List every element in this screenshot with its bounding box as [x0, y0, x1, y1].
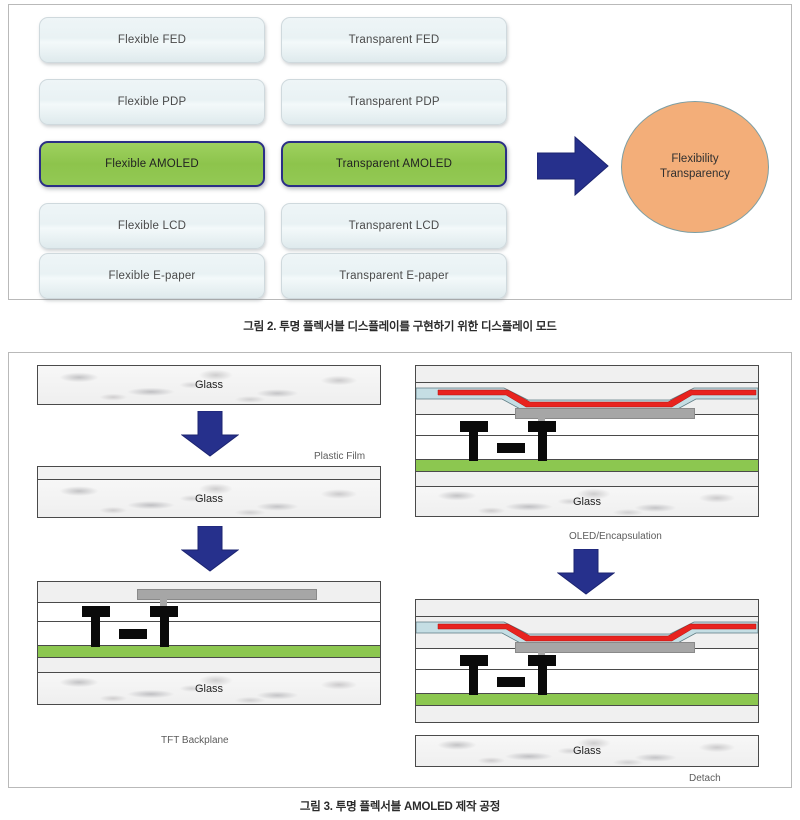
glass-label: Glass [195, 379, 223, 391]
step5-detached-glass-stack: Glass [415, 735, 759, 767]
mode-box-flexible-amoled[interactable]: Flexible AMOLED [39, 141, 265, 187]
cover-layer [415, 599, 759, 617]
arrow-down-icon [557, 549, 615, 595]
result-line-2: Transparency [660, 167, 730, 182]
mode-box-transparent-amoled[interactable]: Transparent AMOLED [281, 141, 507, 187]
glass-label: Glass [573, 496, 601, 508]
step3-label: TFT Backplane [161, 735, 229, 746]
plastic-film-layer [37, 466, 381, 480]
glass-label: Glass [573, 745, 601, 757]
glass-label: Glass [195, 683, 223, 695]
barrier-layer [37, 657, 381, 673]
mode-box-transparent-lcd[interactable]: Transparent LCD [281, 203, 507, 249]
figure3-panel: Glass Plastic Film Glass Glass [8, 352, 792, 788]
figure3-caption: 그림 3. 투명 플렉서블 AMOLED 제작 공정 [0, 798, 800, 814]
step5-stack [415, 599, 759, 723]
tft-electrode-stem-left [91, 615, 100, 647]
mode-box-transparent-pdp[interactable]: Transparent PDP [281, 79, 507, 125]
mode-box-flexible-epaper[interactable]: Flexible E-paper [39, 253, 265, 299]
mode-box-flexible-pdp[interactable]: Flexible PDP [39, 79, 265, 125]
tft-channel-bar [497, 443, 525, 453]
barrier-layer [415, 705, 759, 723]
step2-label: Plastic Film [314, 451, 365, 462]
interlayer-2 [415, 669, 759, 694]
mode-box-label: Transparent E-paper [339, 270, 448, 282]
mode-box-label: Transparent AMOLED [336, 158, 452, 170]
tft-electrode-stem-right [538, 430, 547, 461]
mode-box-label: Transparent FED [349, 34, 440, 46]
interlayer-2 [37, 621, 381, 646]
result-circle: Flexibility Transparency [621, 101, 769, 233]
step3-stack: Glass [37, 581, 381, 705]
tft-electrode-stem-right [538, 664, 547, 695]
barrier-layer [415, 471, 759, 487]
tft-channel-bar [119, 629, 147, 639]
mode-box-flexible-fed[interactable]: Flexible FED [39, 17, 265, 63]
arrow-down-icon [181, 411, 239, 457]
glass-label: Glass [195, 493, 223, 505]
tft-electrode-stem-right [160, 615, 169, 647]
mode-box-label: Transparent PDP [348, 96, 439, 108]
tft-channel-bar [497, 677, 525, 687]
step1-stack: Glass [37, 365, 381, 405]
step2-stack: Glass [37, 466, 381, 518]
glass-layer: Glass [37, 479, 381, 518]
mode-box-label: Flexible E-paper [109, 270, 196, 282]
tft-electrode-stem-left [469, 664, 478, 695]
mode-box-transparent-fed[interactable]: Transparent FED [281, 17, 507, 63]
glass-layer: Glass [37, 365, 381, 405]
mode-box-label: Flexible AMOLED [105, 158, 199, 170]
figure2-panel: Flexible FED Flexible PDP Flexible AMOLE… [8, 4, 792, 300]
mode-box-label: Flexible LCD [118, 220, 186, 232]
mode-box-label: Flexible PDP [118, 96, 187, 108]
tft-electrode-stem-left [469, 430, 478, 461]
step4-stack: Glass [415, 365, 759, 517]
mode-box-label: Transparent LCD [349, 220, 440, 232]
figure2-caption: 그림 2. 투명 플렉서블 디스플레이를 구현하기 위한 디스플레이 모드 [0, 318, 800, 334]
mode-box-flexible-lcd[interactable]: Flexible LCD [39, 203, 265, 249]
result-line-1: Flexibility [671, 152, 718, 167]
glass-layer: Glass [415, 486, 759, 517]
mode-box-transparent-epaper[interactable]: Transparent E-paper [281, 253, 507, 299]
arrow-down-icon [181, 526, 239, 572]
glass-layer: Glass [37, 672, 381, 705]
step5-label: Detach [689, 773, 721, 784]
step4-label: OLED/Encapsulation [569, 531, 662, 542]
glass-layer: Glass [415, 735, 759, 767]
mode-box-label: Flexible FED [118, 34, 186, 46]
interlayer-2 [415, 435, 759, 460]
arrow-right-icon [537, 135, 609, 197]
cover-layer [415, 365, 759, 383]
